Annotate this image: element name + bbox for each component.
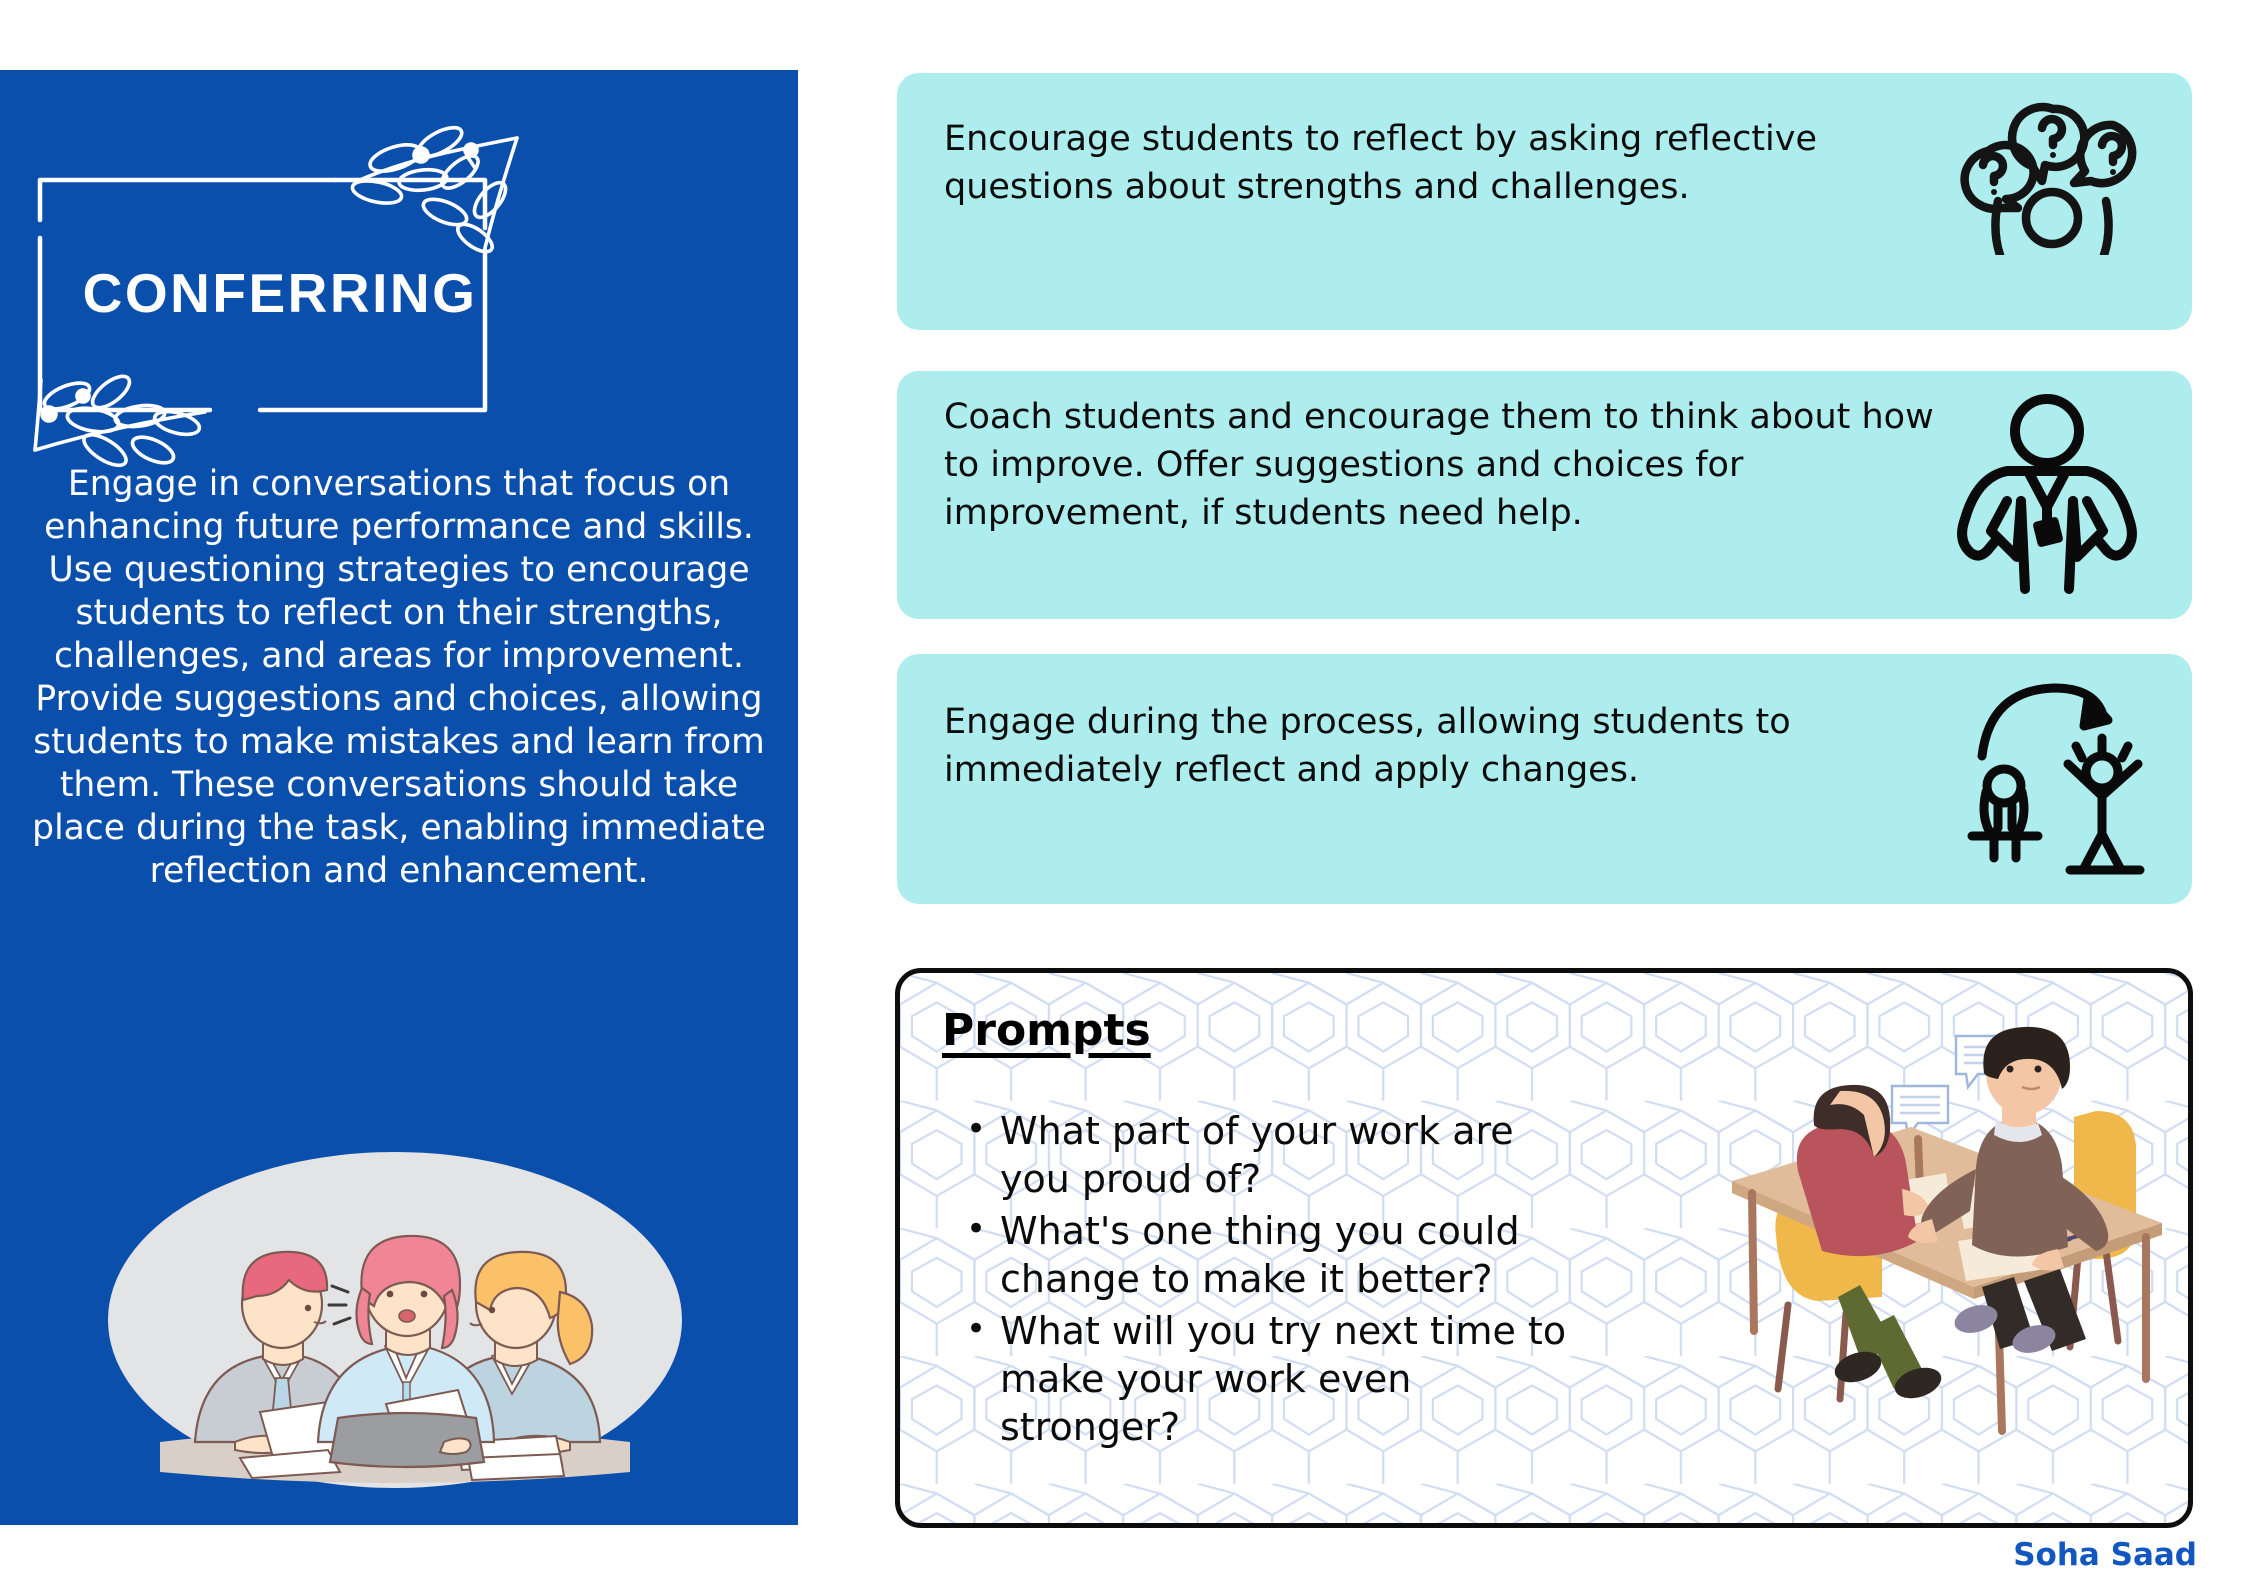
question-bubbles-person-icon	[1945, 95, 2160, 255]
tip-card-3-text: Engage during the process, allowing stud…	[944, 698, 1954, 794]
three-people-meeting-illustration	[100, 1142, 690, 1502]
page-title: CONFERRING	[35, 165, 525, 420]
tip-card-3: Engage during the process, allowing stud…	[897, 654, 2192, 904]
prompts-title: Prompts	[942, 1005, 1151, 1056]
title-decorative-frame: CONFERRING	[35, 165, 525, 420]
coach-whistle-person-icon	[1947, 389, 2147, 599]
prompts-list: What part of your work are you proud of?…	[960, 1107, 1570, 1455]
tip-card-2-text: Coach students and encourage them to thi…	[944, 393, 1944, 537]
left-panel-description: Engage in conversations that focus on en…	[18, 463, 780, 893]
tip-card-1: Encourage students to reflect by asking …	[897, 73, 2192, 330]
tip-card-2: Coach students and encourage them to thi…	[897, 371, 2192, 619]
prompt-item: What will you try next time to make your…	[960, 1307, 1570, 1451]
two-people-conferring-at-table-illustration	[1706, 1001, 2176, 1441]
prompts-box: Prompts What part of your work are you p…	[895, 968, 2193, 1528]
tip-card-1-text: Encourage students to reflect by asking …	[944, 115, 1844, 211]
left-blue-panel: CONFERRING Engage in conversations that …	[0, 70, 798, 1525]
author-signature: Soha Saad	[2013, 1537, 2197, 1573]
transformation-arrow-figures-icon	[1942, 676, 2162, 876]
infographic-page: CONFERRING Engage in conversations that …	[0, 0, 2245, 1587]
prompt-item: What's one thing you could change to mak…	[960, 1207, 1570, 1303]
prompt-item: What part of your work are you proud of?	[960, 1107, 1570, 1203]
